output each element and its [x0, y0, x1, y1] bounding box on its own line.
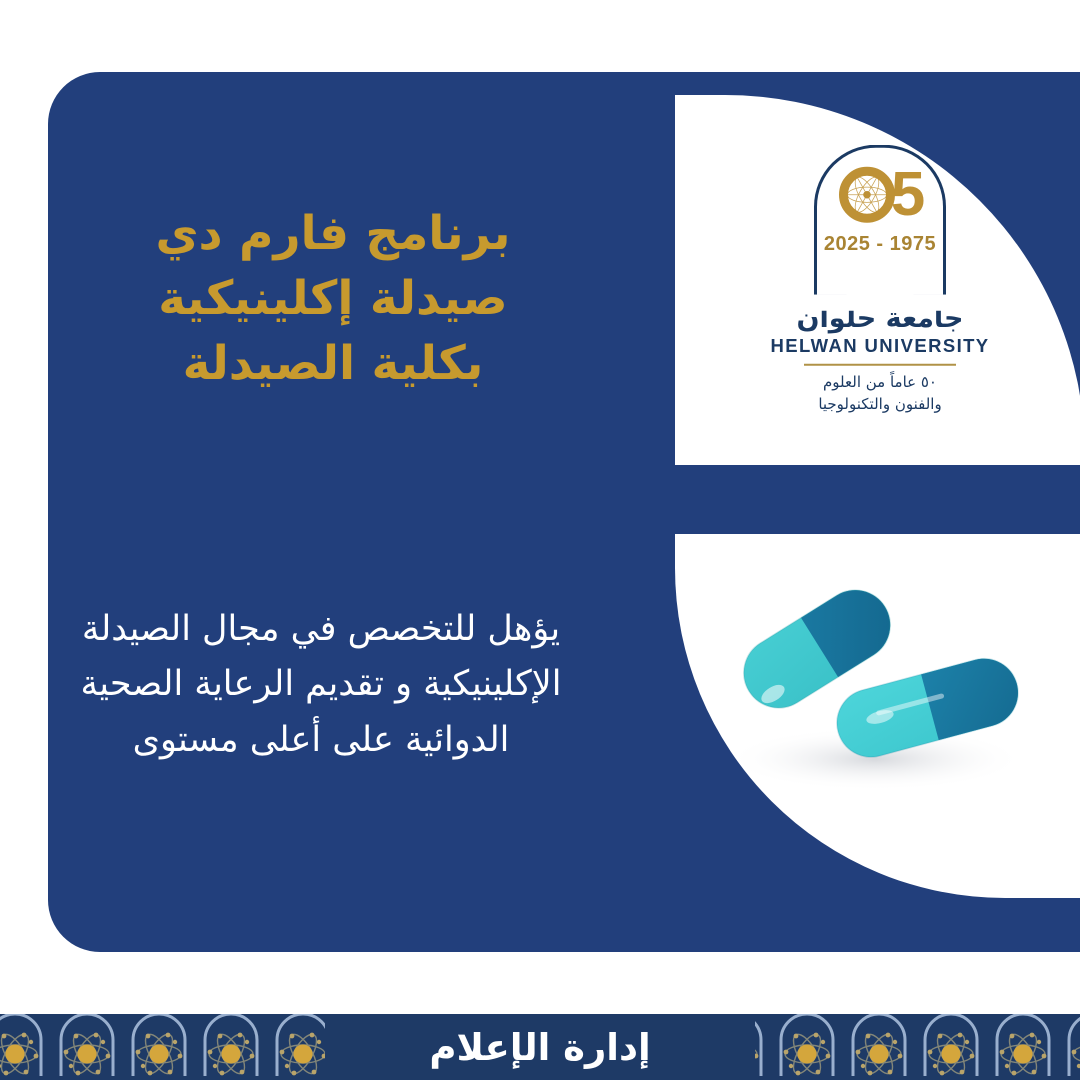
helwan-university-logo: 5: [675, 145, 1080, 416]
logo-tagline-line2: والفنون والتكنولوجيا: [818, 394, 941, 416]
logo-arch-shape: 5: [814, 145, 946, 295]
poster-panel: برنامج فارم دي صيدلة إكلينيكية بكلية الص…: [48, 72, 1080, 952]
atom-net-svg: [839, 167, 895, 223]
logo-divider: [804, 364, 956, 366]
capsules-image-card: [675, 534, 1080, 898]
media-department-label: إدارة الإعلام: [429, 1026, 650, 1069]
atom-icon: [839, 167, 895, 223]
footer-band: إدارة الإعلام: [0, 1014, 1080, 1080]
footer-label-container: إدارة الإعلام: [325, 1014, 755, 1080]
capsules-icon: [675, 534, 1080, 898]
logo-tagline-line1: ٥٠ عاماً من العلوم: [818, 372, 941, 394]
logo-card: 5: [675, 95, 1080, 465]
anniversary-digit-five: 5: [891, 168, 921, 221]
logo-tagline: ٥٠ عاماً من العلوم والفنون والتكنولوجيا: [818, 372, 941, 416]
anniversary-50: 5: [839, 164, 921, 226]
page-title: برنامج فارم دي صيدلة إكلينيكية بكلية الص…: [98, 202, 568, 397]
anniversary-years: 1975 - 2025: [824, 233, 936, 256]
program-description: يؤهل للتخصص في مجال الصيدلة الإكلينيكية …: [66, 602, 576, 768]
university-name-english: HELWAN UNIVERSITY: [770, 335, 989, 357]
